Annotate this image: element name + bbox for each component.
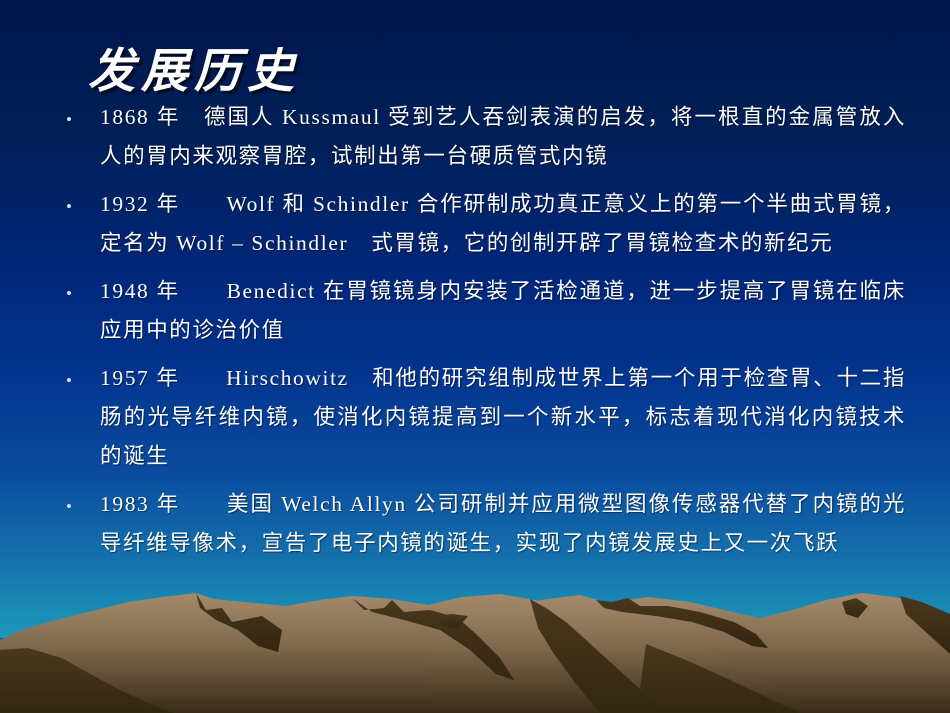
list-item: • 1957 年 Hirschowitz 和他的研究组制成世界上第一个用于检查胃… <box>58 359 906 476</box>
bullet-marker-icon: • <box>58 185 100 215</box>
bullet-text: 1868 年 德国人 Kussmaul 受到艺人吞剑表演的启发，将一根直的金属管… <box>100 98 906 176</box>
mountain-decoration <box>0 588 950 713</box>
list-item: • 1983 年 美国 Welch Allyn 公司研制并应用微型图像传感器代替… <box>58 485 906 563</box>
bullet-marker-icon: • <box>58 359 100 389</box>
bullet-marker-icon: • <box>58 98 100 128</box>
bullet-marker-icon: • <box>58 272 100 302</box>
bullet-text: 1932 年 Wolf 和 Schindler 合作研制成功真正意义上的第一个半… <box>100 185 906 263</box>
bullet-text: 1957 年 Hirschowitz 和他的研究组制成世界上第一个用于检查胃、十… <box>100 359 906 476</box>
mountain-svg <box>0 588 950 713</box>
list-item: • 1868 年 德国人 Kussmaul 受到艺人吞剑表演的启发，将一根直的金… <box>58 98 906 176</box>
bullet-text: 1948 年 Benedict 在胃镜镜身内安装了活检通道，进一步提高了胃镜在临… <box>100 272 906 350</box>
bullet-marker-icon: • <box>58 485 100 515</box>
bullet-list: • 1868 年 德国人 Kussmaul 受到艺人吞剑表演的启发，将一根直的金… <box>58 98 906 572</box>
list-item: • 1948 年 Benedict 在胃镜镜身内安装了活检通道，进一步提高了胃镜… <box>58 272 906 350</box>
slide-canvas: 发展历史 • 1868 年 德国人 Kussmaul 受到艺人吞剑表演的启发，将… <box>0 0 950 713</box>
bullet-text: 1983 年 美国 Welch Allyn 公司研制并应用微型图像传感器代替了内… <box>100 485 906 563</box>
page-title: 发展历史 <box>88 32 300 101</box>
list-item: • 1932 年 Wolf 和 Schindler 合作研制成功真正意义上的第一… <box>58 185 906 263</box>
